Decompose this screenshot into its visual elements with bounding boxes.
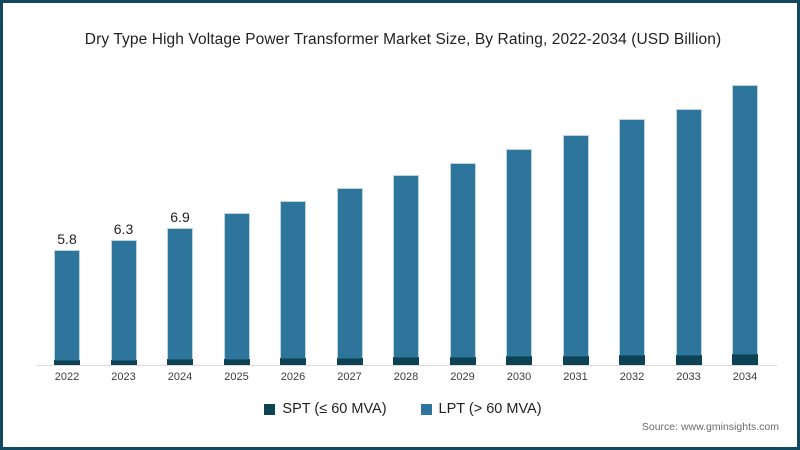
bar-value-label-2023: 6.3 bbox=[97, 221, 151, 237]
x-axis-tick-2030: 2030 bbox=[491, 371, 547, 383]
plot-area: 5.86.36.9 bbox=[37, 81, 773, 366]
bar-segment-lpt-2023[interactable] bbox=[111, 240, 137, 360]
chart-card: Dry Type High Voltage Power Transformer … bbox=[0, 0, 800, 450]
x-axis-tick-2024: 2024 bbox=[152, 371, 208, 383]
x-axis-tick-2026: 2026 bbox=[265, 371, 321, 383]
stacked-bar[interactable] bbox=[563, 135, 589, 366]
x-axis-tick-2029: 2029 bbox=[435, 371, 491, 383]
bar-segment-lpt-2032[interactable] bbox=[619, 119, 645, 355]
x-axis-tick-2032: 2032 bbox=[604, 371, 660, 383]
stacked-bar[interactable] bbox=[676, 109, 702, 366]
bar-segment-lpt-2027[interactable] bbox=[337, 188, 363, 358]
bar-group-2023[interactable]: 6.3 bbox=[111, 240, 137, 366]
bar-group-2026[interactable] bbox=[280, 201, 306, 366]
legend-swatch-icon bbox=[264, 404, 275, 415]
stacked-bar[interactable] bbox=[167, 228, 193, 366]
bar-segment-lpt-2030[interactable] bbox=[506, 149, 532, 356]
stacked-bar[interactable] bbox=[619, 119, 645, 366]
legend-item-spt[interactable]: SPT (≤ 60 MVA) bbox=[264, 401, 386, 417]
stacked-bar[interactable] bbox=[393, 175, 419, 366]
bar-value-label-2024: 6.9 bbox=[153, 209, 207, 225]
source-note: Source: www.gminsights.com bbox=[642, 421, 779, 433]
bar-group-2029[interactable] bbox=[450, 163, 476, 366]
x-axis-tick-2025: 2025 bbox=[209, 371, 265, 383]
bar-group-2031[interactable] bbox=[563, 135, 589, 366]
legend-item-lpt[interactable]: LPT (> 60 MVA) bbox=[421, 401, 542, 417]
bar-group-2033[interactable] bbox=[676, 109, 702, 366]
bar-group-2022[interactable]: 5.8 bbox=[54, 250, 80, 366]
bar-segment-lpt-2034[interactable] bbox=[732, 85, 758, 354]
bar-group-2034[interactable] bbox=[732, 85, 758, 366]
stacked-bar[interactable] bbox=[224, 213, 250, 366]
legend-label: LPT (> 60 MVA) bbox=[439, 401, 542, 417]
chart-title: Dry Type High Voltage Power Transformer … bbox=[3, 31, 800, 49]
legend-swatch-icon bbox=[421, 404, 432, 415]
bar-segment-lpt-2028[interactable] bbox=[393, 175, 419, 357]
chart-legend: SPT (≤ 60 MVA)LPT (> 60 MVA) bbox=[3, 401, 800, 417]
x-axis-tick-2027: 2027 bbox=[322, 371, 378, 383]
bar-segment-lpt-2022[interactable] bbox=[54, 250, 80, 360]
stacked-bar[interactable] bbox=[450, 163, 476, 366]
bar-value-label-2022: 5.8 bbox=[40, 231, 94, 247]
bar-group-2024[interactable]: 6.9 bbox=[167, 228, 193, 366]
bar-group-2030[interactable] bbox=[506, 149, 532, 366]
bar-group-2027[interactable] bbox=[337, 188, 363, 366]
stacked-bar[interactable] bbox=[732, 85, 758, 366]
stacked-bar[interactable] bbox=[54, 250, 80, 366]
x-axis-tick-2031: 2031 bbox=[548, 371, 604, 383]
bar-segment-lpt-2024[interactable] bbox=[167, 228, 193, 360]
bar-segment-lpt-2031[interactable] bbox=[563, 135, 589, 356]
bar-segment-lpt-2033[interactable] bbox=[676, 109, 702, 355]
bar-segment-lpt-2026[interactable] bbox=[280, 201, 306, 358]
x-axis-tick-2022: 2022 bbox=[39, 371, 95, 383]
bar-group-2032[interactable] bbox=[619, 119, 645, 366]
bar-segment-lpt-2025[interactable] bbox=[224, 213, 250, 358]
bar-segment-lpt-2029[interactable] bbox=[450, 163, 476, 357]
bar-group-2028[interactable] bbox=[393, 175, 419, 366]
x-axis-tick-2023: 2023 bbox=[96, 371, 152, 383]
bar-group-2025[interactable] bbox=[224, 213, 250, 366]
legend-label: SPT (≤ 60 MVA) bbox=[282, 401, 386, 417]
stacked-bar[interactable] bbox=[337, 188, 363, 366]
stacked-bar[interactable] bbox=[506, 149, 532, 366]
x-axis-line bbox=[37, 365, 777, 366]
x-axis-tick-2033: 2033 bbox=[661, 371, 717, 383]
x-axis-tick-2028: 2028 bbox=[378, 371, 434, 383]
x-axis-tick-2034: 2034 bbox=[717, 371, 773, 383]
stacked-bar[interactable] bbox=[111, 240, 137, 366]
stacked-bar[interactable] bbox=[280, 201, 306, 366]
